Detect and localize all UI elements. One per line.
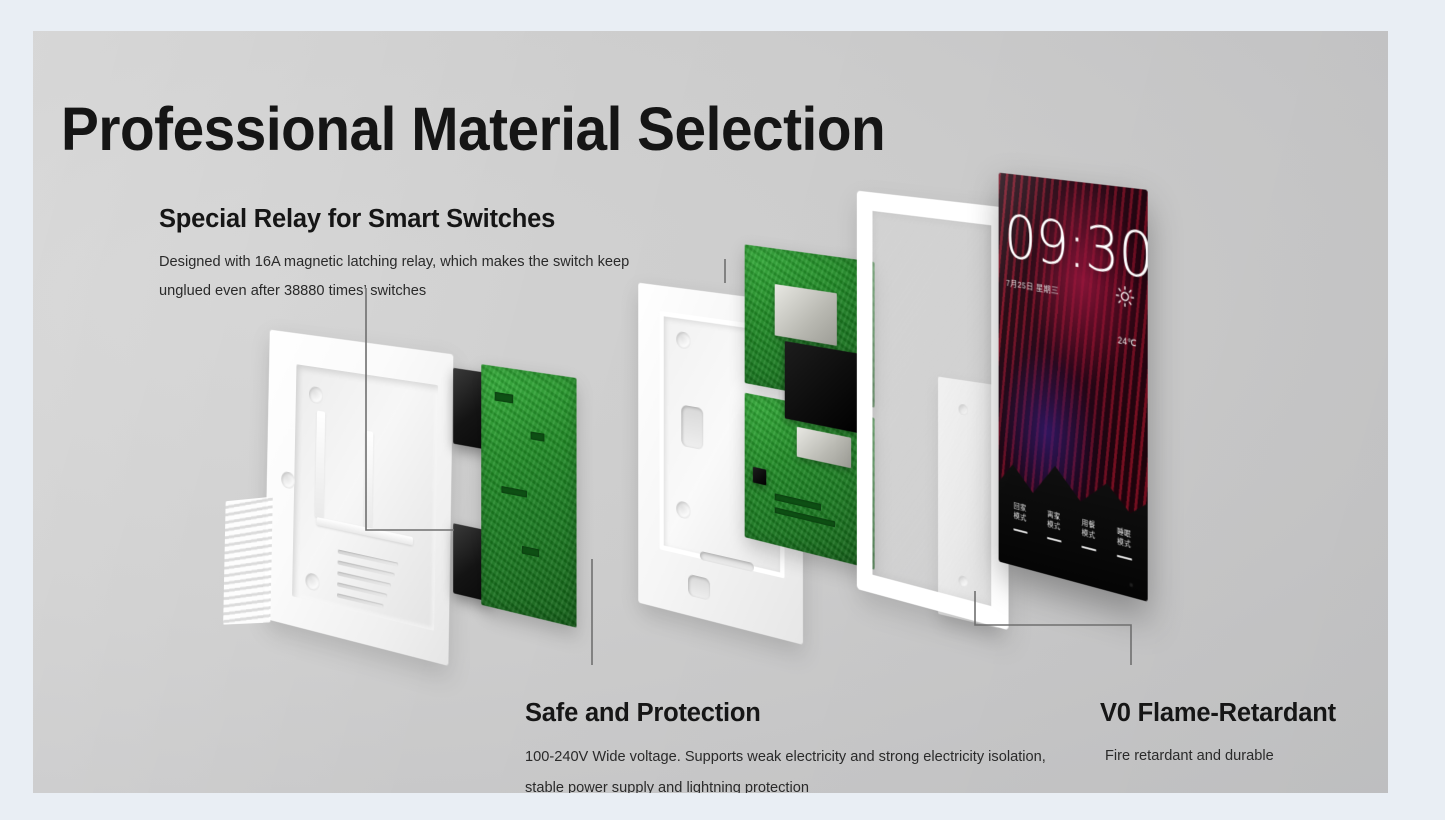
white-back-box-part bbox=[264, 330, 453, 666]
screen-temperature: 24℃ bbox=[1118, 335, 1137, 350]
relay-pcb-board bbox=[481, 364, 576, 627]
feature-heading-safe: Safe and Protection bbox=[525, 699, 1105, 728]
scene-label-line1: 用餐 bbox=[1071, 515, 1106, 534]
touch-screen-panel-part: 09:30 7月25日 星期三 bbox=[999, 173, 1148, 602]
infographic-page: 09:30 7月25日 星期三 bbox=[0, 0, 1445, 820]
feature-body-relay-line1: Designed with 16A magnetic latching rela… bbox=[159, 248, 719, 277]
scene-indicator-bar bbox=[1116, 554, 1131, 560]
sun-icon bbox=[1115, 284, 1135, 315]
light-sensor-icon bbox=[1129, 582, 1133, 587]
capacitor bbox=[753, 467, 766, 486]
feature-special-relay: Special Relay for Smart Switches Designe… bbox=[159, 205, 719, 306]
feature-safe-protection: Safe and Protection 100-240V Wide voltag… bbox=[525, 699, 1105, 793]
feature-heading-flame: V0 Flame-Retardant bbox=[1100, 699, 1388, 728]
scene-label-line2: 模式 bbox=[1106, 534, 1142, 553]
white-bezel-frame-part bbox=[857, 191, 1009, 631]
page-title: Professional Material Selection bbox=[61, 94, 885, 164]
scene-button[interactable]: 睡眠 模式 bbox=[1106, 524, 1142, 563]
main-circuit-board-part bbox=[745, 244, 875, 569]
scene-label-line1: 睡眠 bbox=[1106, 524, 1142, 543]
bezel-frame-body bbox=[857, 191, 1009, 631]
product-panel: 09:30 7月25日 星期三 bbox=[33, 31, 1388, 793]
scene-label-line2: 模式 bbox=[1071, 525, 1106, 544]
feature-body-flame-line1: Fire retardant and durable bbox=[1100, 742, 1388, 771]
scene-indicator-bar bbox=[1081, 545, 1096, 551]
scene-button[interactable]: 用餐 模式 bbox=[1071, 515, 1106, 554]
feature-body-relay-line2: unglued even after 38880 times’ switches bbox=[159, 277, 719, 306]
feature-flame-retardant: V0 Flame-Retardant Fire retardant and du… bbox=[1100, 699, 1388, 771]
relay-circuit-board-part bbox=[481, 364, 576, 627]
feature-body-safe-line2: stable power supply and lightning protec… bbox=[525, 773, 1105, 793]
feature-heading-relay: Special Relay for Smart Switches bbox=[159, 205, 719, 234]
feature-body-safe-line1: 100-240V Wide voltage. Supports weak ele… bbox=[525, 742, 1105, 773]
screen-glass: 09:30 7月25日 星期三 bbox=[999, 173, 1148, 602]
